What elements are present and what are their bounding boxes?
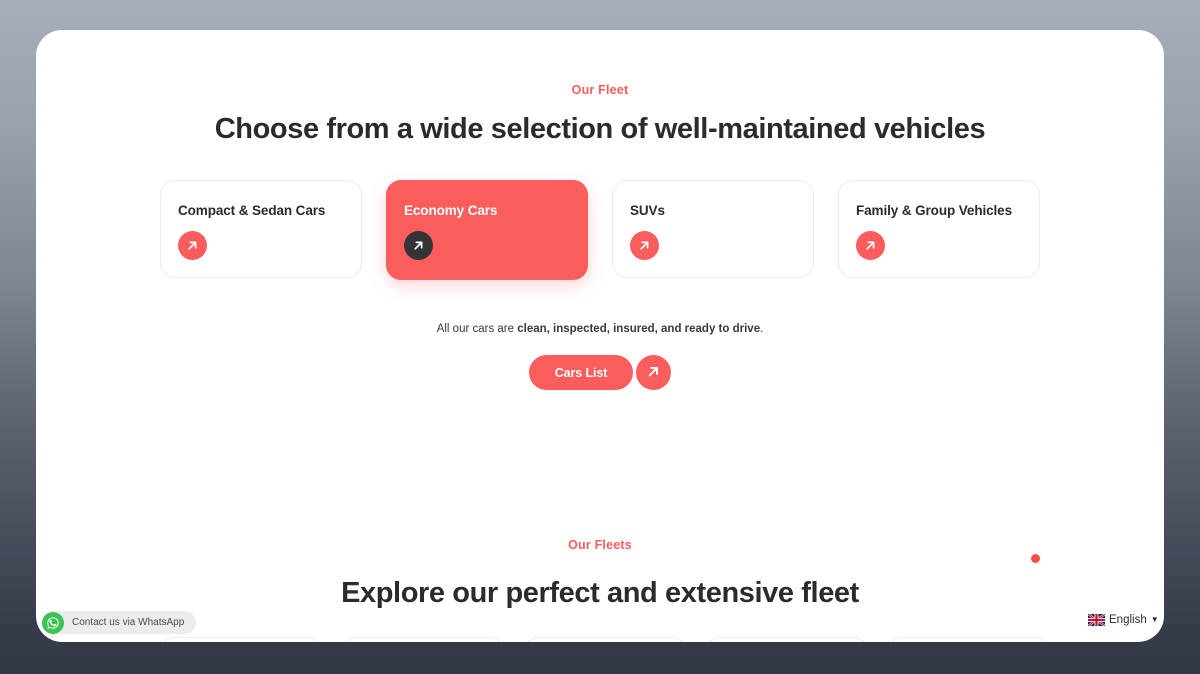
fleet-assurance-note: All our cars are clean, inspected, insur… — [36, 323, 1164, 335]
category-card-compact-sedan-cars[interactable]: Compact & Sedan Cars — [160, 180, 362, 278]
fleet-section-title: Choose from a wide selection of well-mai… — [36, 113, 1164, 146]
fleet-cards-row — [160, 637, 1050, 642]
fleet-note-prefix: All our cars are — [437, 323, 518, 335]
fleet-note-strong: clean, inspected, insured, and ready to … — [517, 323, 760, 335]
fleet-card[interactable] — [524, 637, 686, 642]
fleet-card[interactable] — [706, 637, 868, 642]
arrow-up-right-icon[interactable] — [856, 231, 885, 260]
category-card-row: Compact & Sedan Cars Economy Cars SUVs — [160, 180, 1040, 280]
carousel-indicator-dot[interactable] — [1031, 554, 1040, 563]
arrow-up-right-icon[interactable] — [630, 231, 659, 260]
arrow-up-right-icon[interactable] — [178, 231, 207, 260]
whatsapp-label: Contact us via WhatsApp — [72, 617, 184, 628]
language-name: English — [1109, 614, 1147, 626]
category-card-suvs[interactable]: SUVs — [612, 180, 814, 278]
fleet-card[interactable] — [160, 637, 322, 642]
cars-list-arrow-button[interactable] — [636, 355, 671, 390]
fleets-section-title: Explore our perfect and extensive fleet — [36, 577, 1164, 610]
fleet-note-suffix: . — [760, 323, 763, 335]
page-panel: Our Fleet Choose from a wide selection o… — [36, 30, 1164, 642]
uk-flag-icon — [1088, 614, 1105, 626]
fleet-card[interactable] — [342, 637, 504, 642]
arrow-up-right-icon — [646, 364, 661, 382]
fleet-section-eyebrow: Our Fleet — [36, 83, 1164, 97]
arrow-up-right-icon[interactable] — [404, 231, 433, 260]
fleets-section-eyebrow: Our Fleets — [36, 538, 1164, 552]
category-card-label: Economy Cars — [404, 203, 570, 218]
whatsapp-icon — [42, 612, 64, 634]
category-card-economy-cars[interactable]: Economy Cars — [386, 180, 588, 280]
cars-list-button[interactable]: Cars List — [529, 355, 634, 390]
fleet-card[interactable] — [888, 637, 1050, 642]
chevron-down-icon: ▼ — [1151, 616, 1159, 624]
cars-list-cta-group: Cars List — [36, 355, 1164, 390]
category-card-family-group-vehicles[interactable]: Family & Group Vehicles — [838, 180, 1040, 278]
whatsapp-contact-widget[interactable]: Contact us via WhatsApp — [42, 611, 196, 634]
category-card-label: Compact & Sedan Cars — [178, 203, 344, 218]
language-selector[interactable]: English ▼ — [1088, 614, 1159, 626]
category-card-label: SUVs — [630, 203, 796, 218]
category-card-label: Family & Group Vehicles — [856, 203, 1022, 218]
